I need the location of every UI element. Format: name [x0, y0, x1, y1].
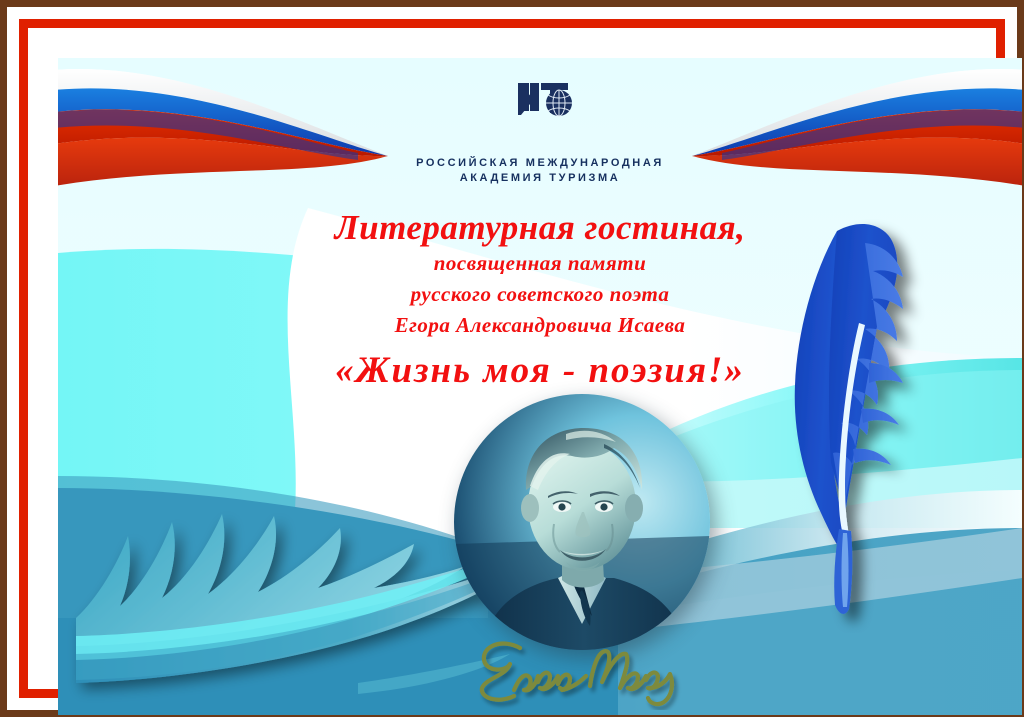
organization-name: РОССИЙСКАЯ МЕЖДУНАРОДНАЯ АКАДЕМИЯ ТУРИЗМ… — [58, 156, 1022, 186]
quote-title: «Жизнь моя - поэзия!» — [58, 345, 1022, 397]
poster-artwork: РОССИЙСКАЯ МЕЖДУНАРОДНАЯ АКАДЕМИЯ ТУРИЗМ… — [58, 58, 1022, 715]
poster-canvas: РОССИЙСКАЯ МЕЖДУНАРОДНАЯ АКАДЕМИЯ ТУРИЗМ… — [0, 0, 1024, 717]
rmat-globe-logo-icon — [508, 63, 580, 135]
event-title: Литературная гостиная, — [58, 208, 1022, 248]
red-frame-border: РОССИЙСКАЯ МЕЖДУНАРОДНАЯ АКАДЕМИЯ ТУРИЗМ… — [19, 19, 1005, 698]
organization-line-1: РОССИЙСКАЯ МЕЖДУНАРОДНАЯ — [58, 156, 1022, 171]
title-block: Литературная гостиная, посвященная памят… — [58, 208, 1022, 397]
dedication-line-1: посвященная памяти — [58, 248, 1022, 279]
poet-name: Егора Александровича Исаева — [58, 310, 1022, 341]
dedication-line-2: русского советского поэта — [58, 279, 1022, 310]
organization-line-2: АКАДЕМИЯ ТУРИЗМА — [58, 171, 1022, 186]
handwritten-signature — [458, 630, 718, 710]
portrait-photo — [454, 394, 710, 650]
